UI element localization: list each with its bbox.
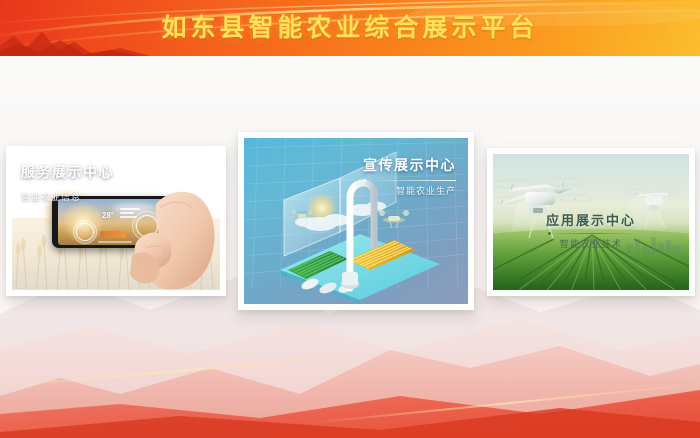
service-center-image: 28° xyxy=(12,152,220,290)
card-application-center[interactable]: 应用展示中心 智能农业技术 xyxy=(487,148,695,296)
application-divider xyxy=(546,233,636,234)
card-promotion-center[interactable]: 宣传展示中心 智能农业生产 xyxy=(238,132,474,310)
hand-holding-phone xyxy=(130,182,220,290)
service-subtitle: 智能农业信息 xyxy=(21,190,114,203)
hud-data-chip xyxy=(100,231,126,238)
application-subtitle: 智能农业技术 xyxy=(546,237,636,250)
promotion-caption: 宣传展示中心 智能农业生产 xyxy=(363,155,456,197)
page-title: 如东县智能农业综合展示平台 xyxy=(0,8,700,44)
hud-temperature: 28° xyxy=(102,211,114,220)
hud-arc-left xyxy=(73,220,97,244)
card-service-center[interactable]: 28° xyxy=(6,146,226,296)
divider-dot xyxy=(21,185,24,188)
service-title: 服务展示中心 xyxy=(21,162,114,182)
promotion-center-image: 宣传展示中心 智能农业生产 xyxy=(244,138,468,304)
application-title: 应用展示中心 xyxy=(546,210,636,229)
promotion-title: 宣传展示中心 xyxy=(363,155,456,175)
cloud-2 xyxy=(124,160,194,176)
service-caption: 服务展示中心 智能农业信息 xyxy=(21,162,114,203)
showcase-page: 如东县智能农业综合展示平台 xyxy=(0,0,700,438)
promotion-subtitle: 智能农业生产 xyxy=(363,184,456,197)
application-caption: 应用展示中心 智能农业技术 xyxy=(546,210,636,250)
header-banner: 如东县智能农业综合展示平台 xyxy=(0,0,700,56)
application-center-image: 应用展示中心 智能农业技术 xyxy=(493,154,689,290)
service-divider xyxy=(21,186,114,187)
promotion-divider xyxy=(363,180,456,181)
divider-dot xyxy=(548,232,551,235)
divider-dot xyxy=(363,179,366,182)
drone-right-icon xyxy=(379,210,409,228)
hud-baseline xyxy=(98,241,132,243)
